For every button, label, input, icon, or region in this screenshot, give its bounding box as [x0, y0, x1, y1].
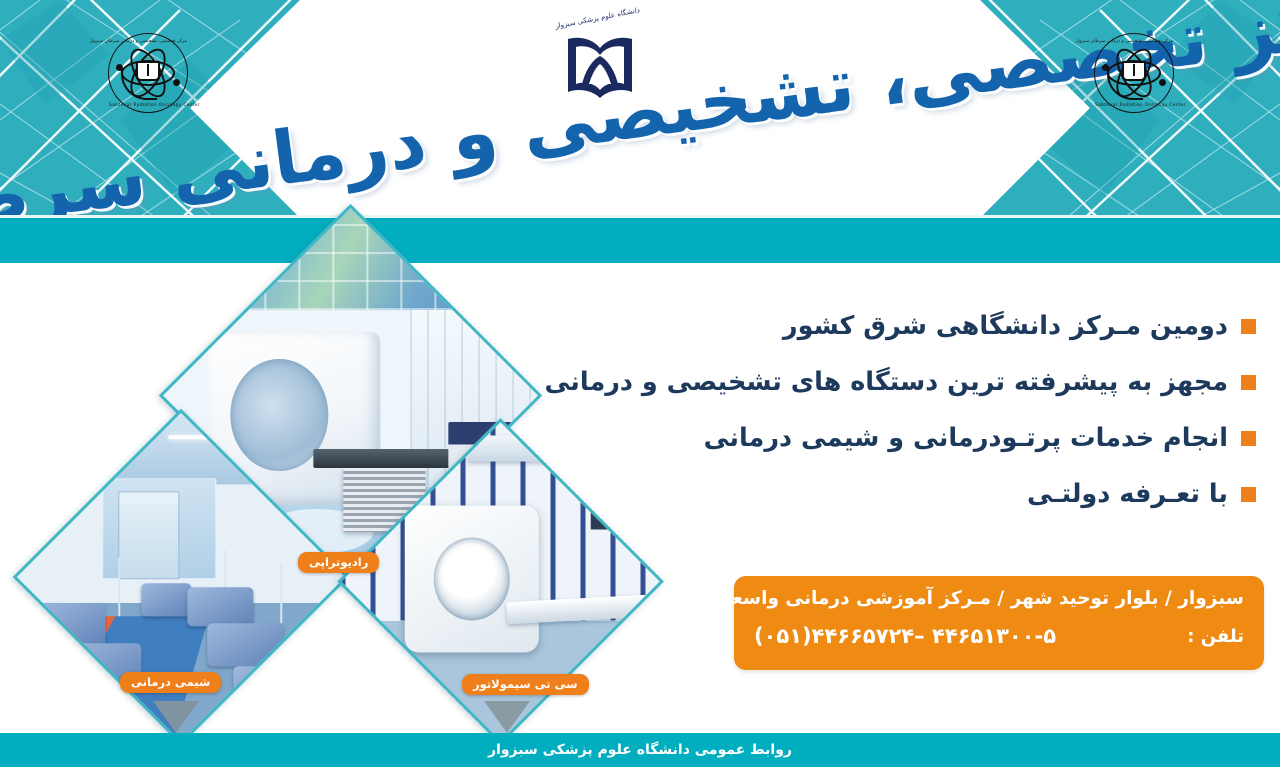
gallery-label-ct-simulator: سی تی سیمولاتور [462, 674, 589, 695]
bullet-label: مجهز به پیشرفته ترین دستگاه های تشخیصی و… [545, 367, 1229, 399]
stethoscope-chestpiece-icon [173, 79, 180, 86]
stethoscope-chestpiece-icon [1159, 79, 1166, 86]
poster-header: مرکز تخصصی، تشخیصی و درمانی سرطان دانشگا… [0, 0, 1280, 218]
phone-numbers: (۰۵۱)۴۴۶۶۵۷۲۴– ۴۴۶۵۱۳۰۰-۵ [754, 624, 1056, 648]
bullet-item: مجهز به پیشرفته ترین دستگاه های تشخیصی و… [496, 367, 1256, 399]
bullet-item: دومین مـرکز دانشگاهی شرق کشور [496, 311, 1256, 343]
feature-bullet-list: دومین مـرکز دانشگاهی شرق کشور مجهز به پی… [496, 311, 1256, 535]
decorative-triangle [153, 701, 199, 733]
bullet-square-icon [1241, 431, 1256, 446]
bullet-label: دومین مـرکز دانشگاهی شرق کشور [783, 311, 1228, 343]
poster-root: مرکز تخصصی، تشخیصی و درمانی سرطان دانشگا… [0, 0, 1280, 767]
gallery-label-chemotherapy: شیمی درمانی [120, 672, 221, 693]
bullet-label: با تعـرفه دولتـی [1027, 479, 1228, 511]
stethoscope-earpiece-icon [116, 64, 123, 71]
bullet-square-icon [1241, 319, 1256, 334]
oncology-center-logo-right: مرکز تخصصی، تشخیصی و درمانی سرطان سبزوار… [1094, 33, 1174, 113]
header-teal-band [0, 218, 1280, 263]
bullet-item: انجام خدمات پرتـودرمانی و شیمی درمانی [496, 423, 1256, 455]
stethoscope-earpiece-icon [1102, 64, 1109, 71]
bullet-square-icon [1241, 375, 1256, 390]
phone-label: تلفن : [1187, 626, 1244, 647]
contact-phone-row: تلفن : (۰۵۱)۴۴۶۶۵۷۲۴– ۴۴۶۵۱۳۰۰-۵ [754, 624, 1244, 648]
logo-ring-top-text: مرکز تخصصی، تشخیصی و درمانی سرطان سبزوار [109, 39, 187, 44]
logo-ring-top-text: مرکز تخصصی، تشخیصی و درمانی سرطان سبزوار [1095, 39, 1173, 44]
bullet-label: انجام خدمات پرتـودرمانی و شیمی درمانی [704, 423, 1228, 455]
decorative-triangle [484, 701, 530, 733]
logo-ring-bottom-text: Sabzevar Radiation Oncology Center [109, 103, 187, 108]
university-book-logo: دانشگاه علوم پزشکی سبزوار [552, 14, 648, 110]
contact-address: سبزوار / بلوار توحید شهر / مـرکز آموزشی … [754, 588, 1244, 609]
bullet-square-icon [1241, 487, 1256, 502]
bullet-item: با تعـرفه دولتـی [496, 479, 1256, 511]
logo-ring-bottom-text: Sabzevar Radiation Oncology Center [1095, 103, 1173, 108]
footer-credit-text: روابط عمومی دانشگاه علوم پزشکی سبزوار [0, 733, 1280, 767]
contact-info-box: سبزوار / بلوار توحید شهر / مـرکز آموزشی … [734, 576, 1264, 670]
gallery-label-radiotherapy: رادیوتراپی [298, 552, 379, 573]
oncology-center-logo-left: مرکز تخصصی، تشخیصی و درمانی سرطان سبزوار… [108, 33, 188, 113]
